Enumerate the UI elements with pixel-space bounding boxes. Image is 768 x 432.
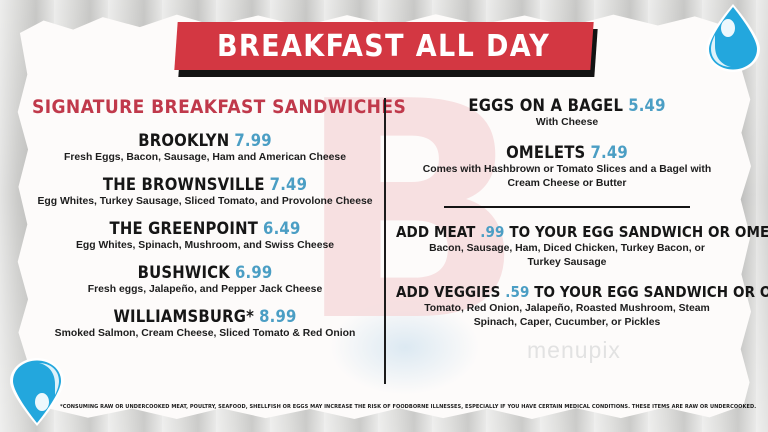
item-price-eggs-on-a-bagel: 5.49 — [628, 96, 665, 115]
item-price-bushwick: 6.99 — [235, 263, 272, 282]
item-name-brooklyn: BROOKLYN7.99 — [32, 131, 378, 150]
item-desc-greenpoint: Egg Whites, Spinach, Mushroom, and Swiss… — [32, 239, 378, 252]
addon-meat-suffix: TO YOUR EGG SANDWICH OR OMELET — [509, 223, 768, 241]
banner: BREAKFAST ALL DAY — [176, 22, 596, 78]
menu-columns: SIGNATURE BREAKFAST SANDWICHES BROOKLYN7… — [32, 96, 738, 386]
item-price-greenpoint: 6.49 — [263, 219, 300, 238]
menu-item: BROOKLYN7.99 Fresh Eggs, Bacon, Sausage,… — [32, 131, 378, 164]
column-divider — [384, 98, 386, 384]
addon-veggies-suffix: TO YOUR EGG SANDWICH OR OMELET — [534, 283, 768, 301]
menu-item: THE GREENPOINT6.49 Egg Whites, Spinach, … — [32, 219, 378, 252]
addon-title-veggies: ADD VEGGIES .59 TO YOUR EGG SANDWICH OR … — [396, 283, 738, 301]
menu-board: B BREAKFAST ALL DAY SIGNATURE BREAKFAST … — [0, 0, 768, 432]
addon-veggies-price: .59 — [505, 283, 529, 301]
addon-title-meat: ADD MEAT .99 TO YOUR EGG SANDWICH OR OME… — [396, 223, 738, 241]
item-name-bushwick: BUSHWICK6.99 — [32, 263, 378, 282]
item-name-williamsburg: WILLIAMSBURG*8.99 — [32, 307, 378, 326]
menu-item: EGGS ON A BAGEL5.49 With Cheese — [396, 96, 738, 129]
footer-disclaimer: *CONSUMING RAW OR UNDERCOOKED MEAT, POUL… — [60, 404, 710, 410]
addon-meat-price: .99 — [480, 223, 504, 241]
item-name-eggs-on-a-bagel: EGGS ON A BAGEL5.49 — [396, 96, 738, 115]
addon-meat-desc-line2: Turkey Sausage — [396, 256, 738, 269]
item-desc-bushwick: Fresh eggs, Jalapeño, and Pepper Jack Ch… — [32, 283, 378, 296]
item-desc-omelets-line2: Cream Cheese or Butter — [396, 177, 738, 190]
addon-meat-prefix: ADD MEAT — [396, 223, 476, 241]
addon-veggies-desc-line2: Spinach, Caper, Cucumber, or Pickles — [396, 316, 738, 329]
item-desc-brownsville: Egg Whites, Turkey Sausage, Sliced Tomat… — [32, 195, 378, 208]
banner-title: BREAKFAST ALL DAY — [217, 29, 550, 64]
item-desc-brooklyn: Fresh Eggs, Bacon, Sausage, Ham and Amer… — [32, 151, 378, 164]
item-desc-omelets-line1: Comes with Hashbrown or Tomato Slices an… — [396, 163, 738, 176]
item-desc-williamsburg: Smoked Salmon, Cream Cheese, Sliced Toma… — [32, 327, 378, 340]
item-name-greenpoint: THE GREENPOINT6.49 — [32, 219, 378, 238]
addon-meat-desc-line1: Bacon, Sausage, Ham, Diced Chicken, Turk… — [396, 242, 738, 255]
item-name-omelets: OMELETS7.49 — [396, 143, 738, 162]
menu-item: THE BROWNSVILLE7.49 Egg Whites, Turkey S… — [32, 175, 378, 208]
water-drop-icon — [702, 2, 764, 79]
addon-veggies-prefix: ADD VEGGIES — [396, 283, 500, 301]
water-drop-icon — [6, 351, 68, 428]
item-price-omelets: 7.49 — [590, 143, 627, 162]
section-separator-rule — [444, 206, 690, 208]
addon-veggies: ADD VEGGIES .59 TO YOUR EGG SANDWICH OR … — [396, 283, 738, 329]
addon-meat: ADD MEAT .99 TO YOUR EGG SANDWICH OR OME… — [396, 223, 738, 269]
item-name-brownsville: THE BROWNSVILLE7.49 — [32, 175, 378, 194]
item-price-brownsville: 7.49 — [270, 175, 307, 194]
item-price-brooklyn: 7.99 — [234, 131, 271, 150]
menu-item: OMELETS7.49 Comes with Hashbrown or Toma… — [396, 143, 738, 190]
menu-item: WILLIAMSBURG*8.99 Smoked Salmon, Cream C… — [32, 307, 378, 340]
left-column: SIGNATURE BREAKFAST SANDWICHES BROOKLYN7… — [32, 96, 384, 386]
menupix-watermark: menupix — [527, 337, 621, 364]
banner-ribbon: BREAKFAST ALL DAY — [174, 22, 593, 70]
section-title-signature-sandwiches: SIGNATURE BREAKFAST SANDWICHES — [32, 96, 378, 118]
item-desc-eggs-on-a-bagel: With Cheese — [396, 116, 738, 129]
addon-veggies-desc-line1: Tomato, Red Onion, Jalapeño, Roasted Mus… — [396, 302, 738, 315]
menu-item: BUSHWICK6.99 Fresh eggs, Jalapeño, and P… — [32, 263, 378, 296]
item-price-williamsburg: 8.99 — [259, 307, 296, 326]
